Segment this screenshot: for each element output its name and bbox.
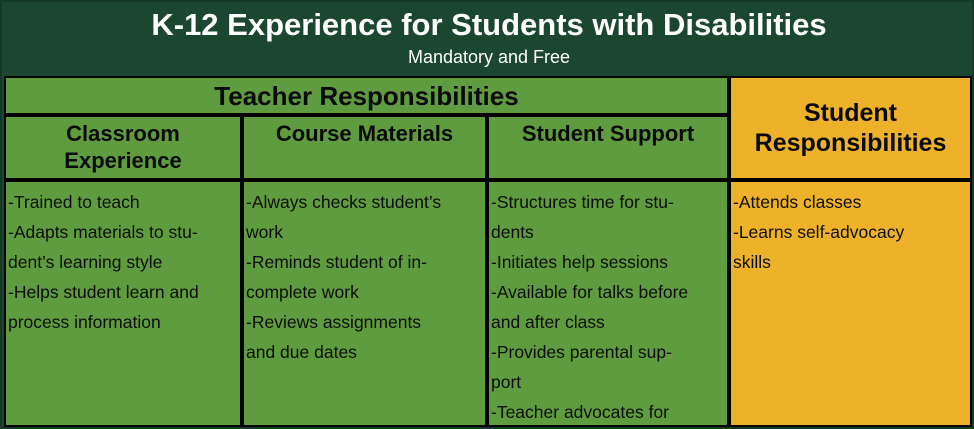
column-body-classroom-experience: -Trained to teach -Adapts materials to s… — [4, 180, 242, 427]
page-subtitle: Mandatory and Free — [408, 46, 570, 68]
column-header-label: Classroom Experience — [6, 120, 240, 174]
group-header-teacher-label: Teacher Responsibilities — [214, 82, 518, 110]
column-header-label: Student Support — [522, 120, 694, 147]
infographic-root: K-12 Experience for Students with Disabi… — [0, 0, 974, 429]
column-body-course-materials: -Always checks student’s work -Reminds s… — [242, 180, 487, 427]
group-header-student-label: Student Responsibilities — [731, 98, 970, 158]
column-header-course-materials: Course Materials — [242, 115, 487, 180]
group-header-teacher: Teacher Responsibilities — [4, 76, 729, 115]
column-body-text: -Always checks student’s work -Reminds s… — [246, 187, 483, 367]
column-body-text: -Trained to teach -Adapts materials to s… — [8, 187, 238, 337]
table-grid: Teacher Responsibilities Student Respons… — [4, 76, 972, 427]
responsibilities-table: Teacher Responsibilities Student Respons… — [4, 76, 972, 427]
column-body-student-support: -Structures time for stu- dents -Initiat… — [487, 180, 729, 427]
column-body-text: -Structures time for stu- dents -Initiat… — [491, 187, 725, 427]
page-title: K-12 Experience for Students with Disabi… — [151, 4, 826, 46]
group-header-student: Student Responsibilities — [729, 76, 972, 180]
column-header-student-support: Student Support — [487, 115, 729, 180]
column-header-classroom-experience: Classroom Experience — [4, 115, 242, 180]
column-body-text: -Attends classes -Learns self-advocacy s… — [733, 187, 968, 277]
title-band: K-12 Experience for Students with Disabi… — [2, 2, 974, 74]
column-header-label: Course Materials — [276, 120, 453, 147]
column-body-student-responsibilities: -Attends classes -Learns self-advocacy s… — [729, 180, 972, 427]
